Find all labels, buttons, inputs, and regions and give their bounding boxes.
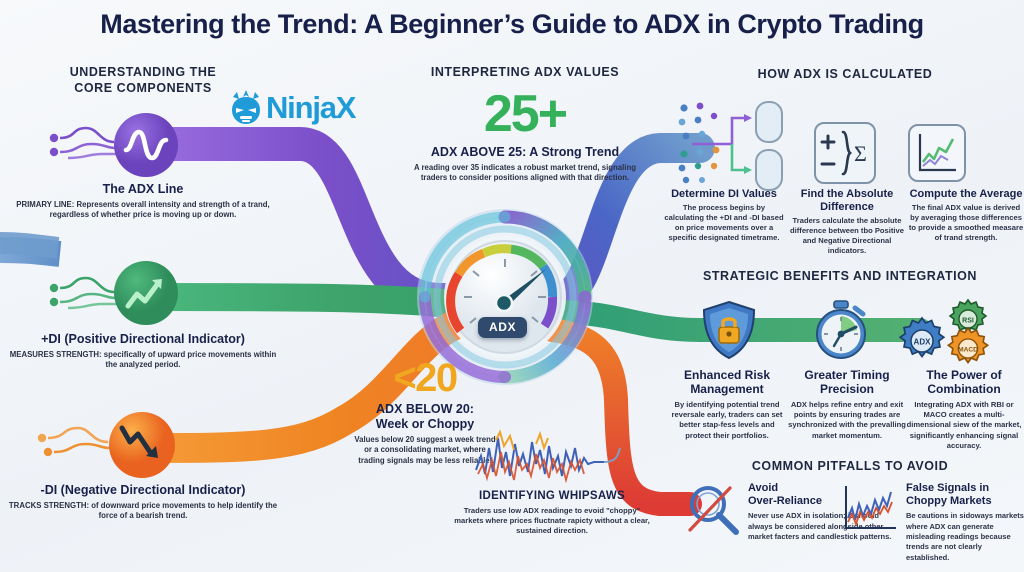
core-heading-line1: UNDERSTANDING THE	[18, 64, 268, 80]
calc-step-body: Traders calculate the absolute differenc…	[788, 216, 906, 257]
core-heading-line2: CORE COMPONENTS	[18, 80, 268, 96]
core-item-body: PRIMARY LINE: Represents overall intensi…	[8, 200, 278, 221]
gauge-adx-badge: ADX	[478, 318, 527, 336]
benefit-greater-timing: Greater Timing Precision ADX helps refin…	[786, 368, 908, 441]
benefit-title-line2: Precision	[786, 382, 908, 396]
benefit-title-line2: Combination	[904, 382, 1024, 396]
benefit-enhanced-risk: Enhanced Risk Management By identifying …	[666, 368, 788, 441]
value-below-20: <20	[330, 358, 520, 398]
data-nodes-split-icon	[676, 100, 806, 188]
benefit-body: By identifying potential trend reversale…	[666, 400, 788, 441]
core-item-body: TRACKS STRENGTH: of downward price movem…	[8, 501, 278, 522]
minus-di-node-icon	[30, 410, 202, 482]
magnifier-crossed-icon	[684, 482, 742, 540]
core-item-adx-line: The ADX Line PRIMARY LINE: Represents ov…	[8, 182, 278, 221]
core-item-title: -DI (Negative Directional Indicator)	[8, 483, 278, 498]
whipsaws-block: IDENTIFYING WHIPSAWS Traders use low ADX…	[452, 490, 652, 536]
section-heading-core-components: UNDERSTANDING THE CORE COMPONENTS	[18, 64, 268, 96]
brand-name: NinjaX	[266, 92, 355, 123]
gear-label-rsi: RSI	[962, 318, 974, 325]
calc-step-title-line2: Difference	[788, 201, 906, 214]
calc-step-1: Determine DI Values The process begins b…	[664, 188, 784, 244]
page-title: Mastering the Trend: A Beginner’s Guide …	[0, 9, 1024, 40]
plus-di-node-icon	[42, 258, 202, 330]
section-heading-benefits: STRATEGIC BENEFITS AND INTEGRATION	[670, 268, 1010, 284]
calc-step-title: Determine DI Values	[664, 188, 784, 201]
pitfall-false-signals: False Signals in Choppy Markets Be cauti…	[906, 482, 1024, 563]
core-item-minus-di: -DI (Negative Directional Indicator) TRA…	[8, 483, 278, 522]
infographic-canvas: Mastering the Trend: A Beginner’s Guide …	[0, 0, 1024, 572]
core-item-title: The ADX Line	[8, 182, 278, 197]
choppy-chart-icon	[842, 484, 898, 534]
stopwatch-icon	[810, 300, 872, 360]
adx-above-body: A reading over 35 indicates a robust mar…	[390, 163, 660, 184]
calc-step-body: The process begins by calculating the +D…	[664, 203, 784, 244]
section-heading-interpreting: INTERPRETING ADX VALUES	[390, 64, 660, 80]
gear-label-macd: MACD	[958, 347, 978, 354]
calc-step-3: Compute the Average The final ADX value …	[908, 188, 1024, 244]
gear-label-adx: ADX	[914, 338, 932, 347]
gauge-label: ADX	[478, 317, 527, 338]
core-item-title: +DI (Positive Directional Indicator)	[8, 332, 278, 347]
whipsaws-body: Traders use low ADX readinge to evoid "c…	[452, 506, 652, 537]
plus-minus-sigma-icon: Σ	[814, 122, 876, 184]
benefit-title-line1: Greater Timing	[786, 368, 908, 382]
adx-line-node-icon	[42, 110, 202, 182]
shield-lock-icon	[700, 300, 758, 360]
core-item-plus-di: +DI (Positive Directional Indicator) MEA…	[8, 332, 278, 371]
core-item-body: MEASURES STRENGTH: specifically of upwar…	[8, 350, 278, 371]
calc-step-body: The final ADX value is derived by averag…	[908, 203, 1024, 244]
value-25-plus: 25+	[390, 88, 660, 140]
calc-step-title-line1: Find the Absolute	[788, 188, 906, 201]
gears-icon: RSI ADX MACD	[898, 296, 994, 368]
pitfall-title-line2: Choppy Markets	[906, 495, 1024, 508]
line-chart-frame-icon	[908, 124, 966, 182]
benefit-body: ADX helps refine entry and exit points b…	[786, 400, 908, 441]
volatility-chart-icon	[474, 430, 624, 488]
calc-step-2: Find the Absolute Difference Traders cal…	[788, 188, 906, 257]
benefit-power-of-combination: The Power of Combination Integrating ADX…	[904, 368, 1024, 451]
benefit-title-line1: Enhanced Risk	[666, 368, 788, 382]
benefit-title-line1: The Power of	[904, 368, 1024, 382]
adx-above-25-block: 25+ ADX ABOVE 25: A Strong Trend A readi…	[390, 88, 660, 184]
adx-above-title: ADX ABOVE 25: A Strong Trend	[390, 145, 660, 160]
pitfall-title-line1: False Signals in	[906, 482, 1024, 495]
section-heading-calculation: HOW ADX IS CALCULATED	[700, 66, 990, 82]
calc-step-title: Compute the Average	[908, 188, 1024, 201]
section-heading-pitfalls: COMMON PITFALLS TO AVOID	[690, 458, 1010, 474]
adx-below-title-line1: ADX BELOW 20:	[330, 402, 520, 417]
pitfall-body: Be cautions in sidoways markets where AD…	[906, 511, 1024, 563]
benefit-title-line2: Management	[666, 382, 788, 396]
benefit-body: Integrating ADX with RBI or MACO creates…	[904, 400, 1024, 452]
whipsaws-title: IDENTIFYING WHIPSAWS	[452, 490, 652, 504]
svg-text:Σ: Σ	[854, 141, 867, 166]
